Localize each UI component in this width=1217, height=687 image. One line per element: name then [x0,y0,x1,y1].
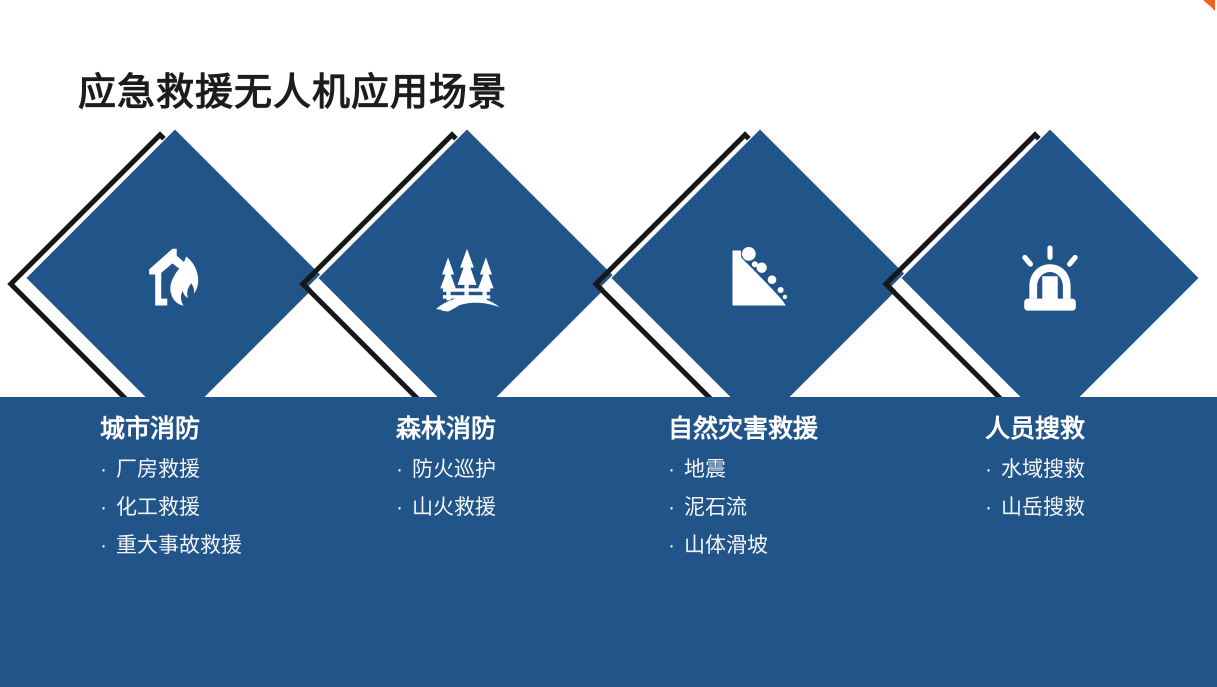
bullet-dot-icon: · [100,459,116,480]
scenario-diamond-city-fire[interactable] [52,168,288,400]
diamond-fill-shape [902,130,1199,427]
list-item: · 山岳搜救 [985,497,1217,518]
scenario-diamond-search-rescue[interactable] [927,168,1163,400]
bullet-dot-icon: · [985,497,1001,518]
scenario-diamond-natural-disaster[interactable] [637,168,873,400]
list-item-label: 山体滑坡 [684,535,768,556]
diamond-fill-shape [612,130,909,427]
list-item-label: 厂房救援 [116,459,200,480]
bullet-list: · 水域搜救 · 山岳搜救 [985,459,1217,518]
column-title: 森林消防 [396,414,686,445]
diamond-fill-shape [319,130,616,427]
scenario-icon-row [0,168,1217,400]
bullet-dot-icon: · [396,497,412,518]
page-title: 应急救援无人机应用场景 [78,71,507,117]
list-item-label: 泥石流 [684,497,747,518]
bullet-list: · 厂房救援 · 化工救援 · 重大事故救援 [100,459,390,556]
list-item: · 山体滑坡 [668,535,958,556]
scenario-column-forest-fire: 森林消防 · 防火巡护 · 山火救援 [396,414,686,535]
list-item: · 山火救援 [396,497,686,518]
list-item: · 地震 [668,459,958,480]
bullet-list: · 防火巡护 · 山火救援 [396,459,686,518]
scenario-column-city-fire: 城市消防 · 厂房救援 · 化工救援 · 重大事故救援 [100,414,390,573]
column-title: 人员搜救 [985,414,1217,445]
bullet-dot-icon: · [100,535,116,556]
scenario-detail-panel: 城市消防 · 厂房救援 · 化工救援 · 重大事故救援 森林消防 [0,397,1217,687]
list-item: · 水域搜救 [985,459,1217,480]
list-item: · 泥石流 [668,497,958,518]
list-item-label: 地震 [684,459,726,480]
orange-corner-fleck [1203,0,1215,11]
bullet-dot-icon: · [100,497,116,518]
list-item-label: 化工救援 [116,497,200,518]
scenario-column-search-rescue: 人员搜救 · 水域搜救 · 山岳搜救 [985,414,1217,535]
bullet-dot-icon: · [985,459,1001,480]
list-item-label: 水域搜救 [1001,459,1085,480]
column-title: 城市消防 [100,414,390,445]
diamond-fill-shape [27,130,324,427]
bullet-dot-icon: · [668,535,684,556]
list-item-label: 防火巡护 [412,459,496,480]
scenario-columns: 城市消防 · 厂房救援 · 化工救援 · 重大事故救援 森林消防 [0,397,1217,687]
list-item: · 厂房救援 [100,459,390,480]
bullet-dot-icon: · [396,459,412,480]
list-item: · 化工救援 [100,497,390,518]
scenario-diamond-forest-fire[interactable] [344,168,580,400]
column-title: 自然灾害救援 [668,414,958,445]
list-item: · 重大事故救援 [100,535,390,556]
list-item-label: 重大事故救援 [116,535,242,556]
scenario-column-natural-disaster: 自然灾害救援 · 地震 · 泥石流 · 山体滑坡 [668,414,958,573]
bullet-list: · 地震 · 泥石流 · 山体滑坡 [668,459,958,556]
list-item-label: 山火救援 [412,497,496,518]
bullet-dot-icon: · [668,459,684,480]
list-item-label: 山岳搜救 [1001,497,1085,518]
bullet-dot-icon: · [668,497,684,518]
list-item: · 防火巡护 [396,459,686,480]
